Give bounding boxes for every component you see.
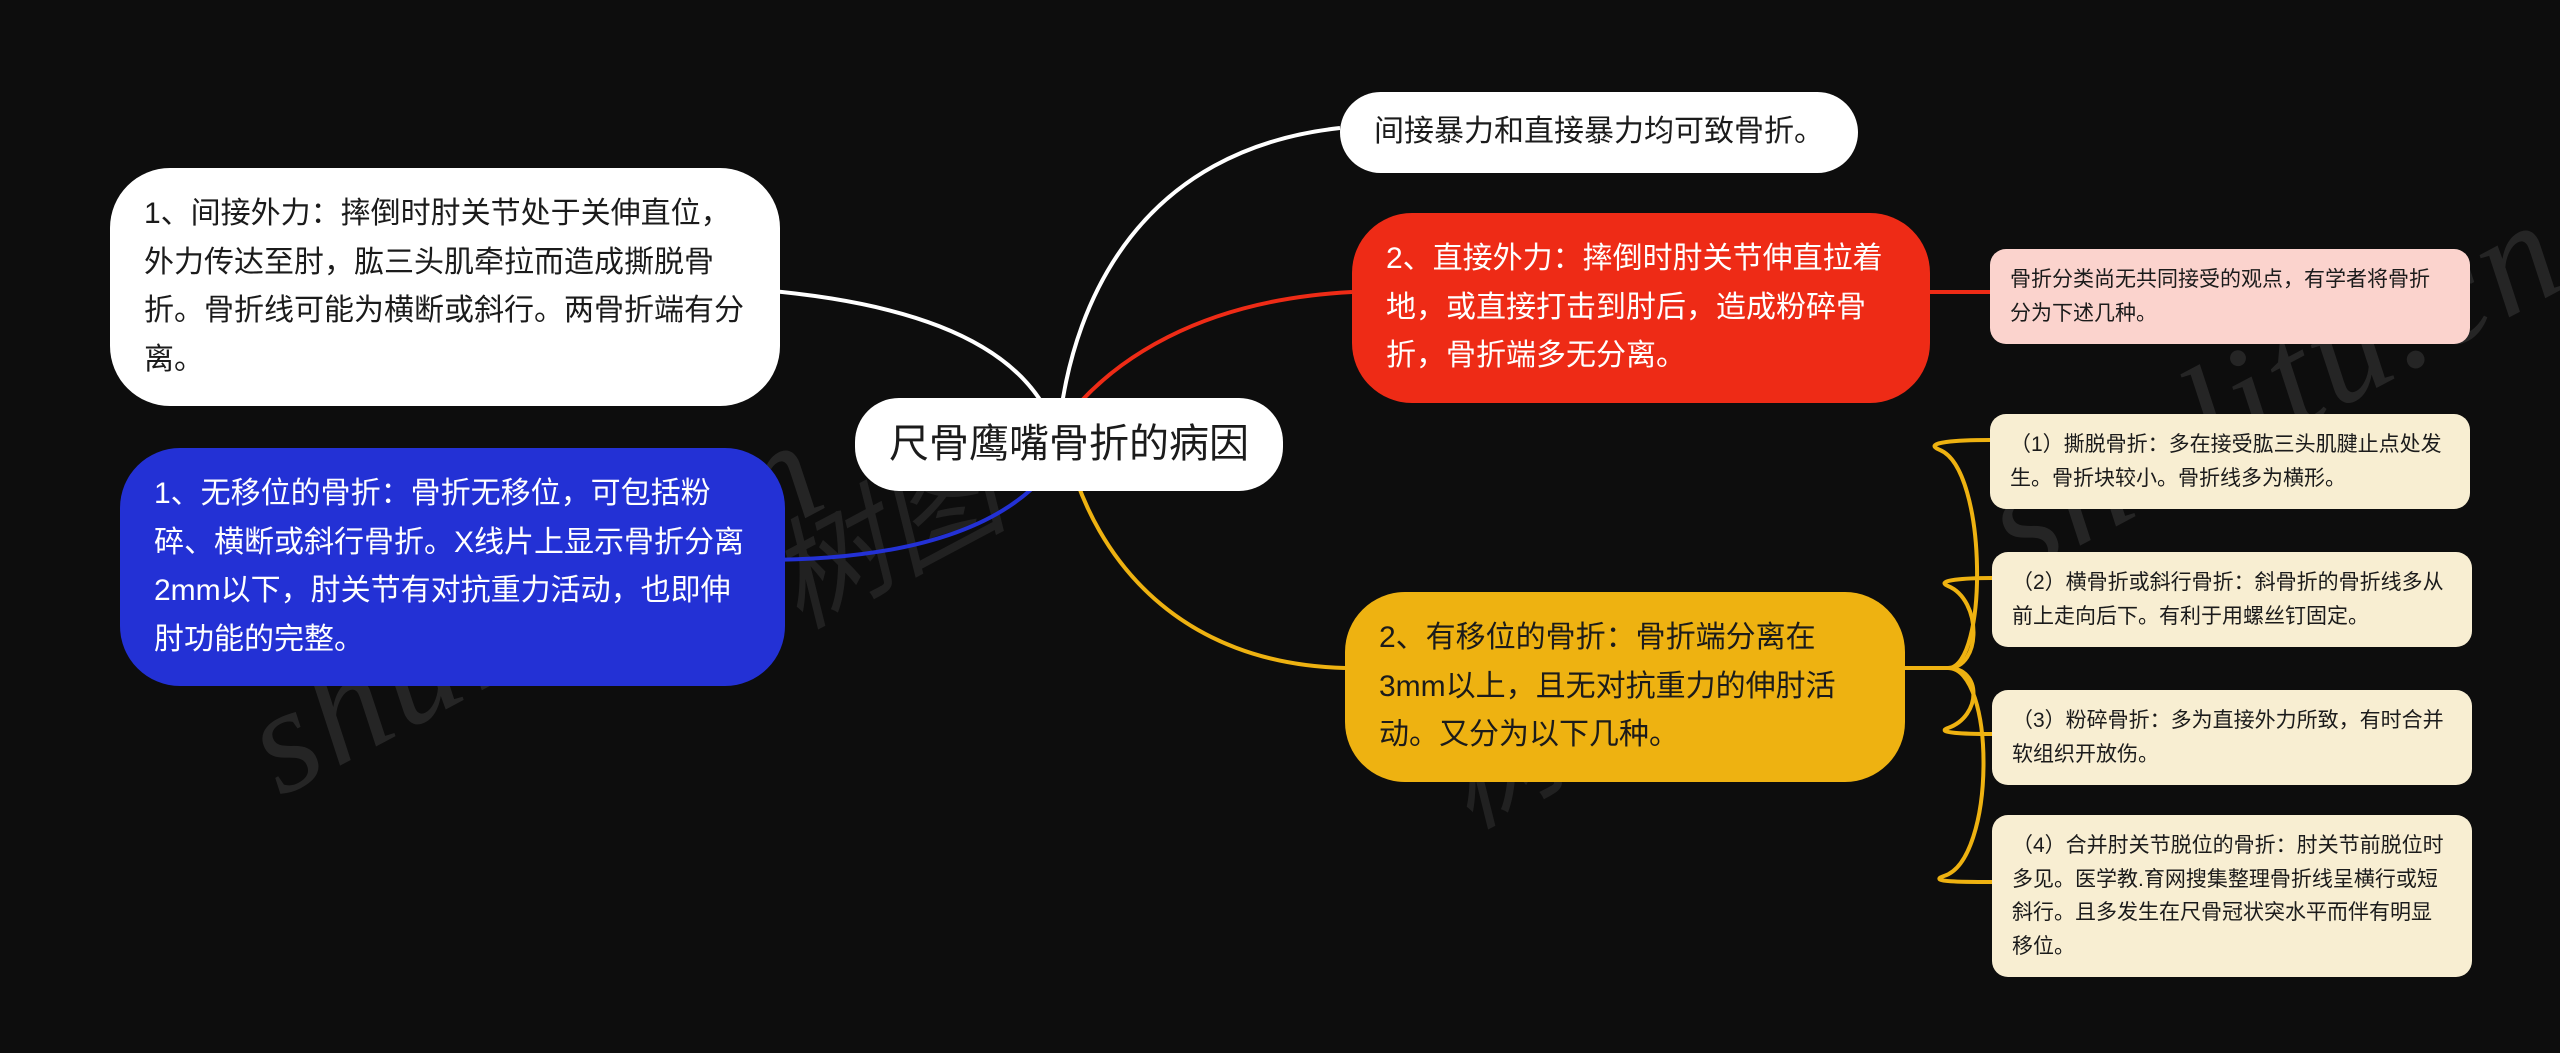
card-transverse-oblique-fracture[interactable]: （2）横骨折或斜行骨折：斜骨折的骨折线多从前上走向后下。有利于用螺丝钉固定。 <box>1992 552 2472 647</box>
card-dislocation-fracture[interactable]: （4）合并肘关节脱位的骨折：肘关节前脱位时多见。医学教.育网搜集整理骨折线呈横行… <box>1992 815 2472 977</box>
connector-avulsion <box>1935 440 1990 668</box>
connector-dislocation <box>1939 668 1992 882</box>
connector-transverse <box>1945 578 1992 668</box>
node-nondisplaced-fracture-label: 1、无移位的骨折：骨折无移位，可包括粉碎、横断或斜行骨折。X线片上显示骨折分离2… <box>154 470 751 664</box>
mindmap-canvas: shulitu.cn shulitu.cn 树图 树图 尺骨鹰嘴骨折的病因 1、… <box>0 0 2560 1053</box>
card-classification-note-label: 骨折分类尚无共同接受的观点，有学者将骨折分为下述几种。 <box>2010 263 2450 330</box>
node-direct-force[interactable]: 2、直接外力：摔倒时肘关节伸直拉着地，或直接打击到肘后，造成粉碎骨折，骨折端多无… <box>1352 213 1930 403</box>
node-indirect-force[interactable]: 1、间接外力：摔倒时肘关节处于关伸直位，外力传达至肘，肱三头肌牵拉而造成撕脱骨折… <box>110 168 780 406</box>
card-transverse-oblique-fracture-label: （2）横骨折或斜行骨折：斜骨折的骨折线多从前上走向后下。有利于用螺丝钉固定。 <box>2012 566 2452 633</box>
node-indirect-force-label: 1、间接外力：摔倒时肘关节处于关伸直位，外力传达至肘，肱三头肌牵拉而造成撕脱骨折… <box>144 190 746 384</box>
node-displaced-fracture-label: 2、有移位的骨折：骨折端分离在3mm以上，且无对抗重力的伸肘活动。又分为以下几种… <box>1379 614 1871 760</box>
card-comminuted-fracture-label: （3）粉碎骨折：多为直接外力所致，有时合并软组织开放伤。 <box>2012 704 2452 771</box>
card-comminuted-fracture[interactable]: （3）粉碎骨折：多为直接外力所致，有时合并软组织开放伤。 <box>1992 690 2472 785</box>
connector-both-forces <box>1060 128 1340 418</box>
node-displaced-fracture[interactable]: 2、有移位的骨折：骨折端分离在3mm以上，且无对抗重力的伸肘活动。又分为以下几种… <box>1345 592 1905 782</box>
node-both-forces-label: 间接暴力和直接暴力均可致骨折。 <box>1374 108 1824 157</box>
root-node[interactable]: 尺骨鹰嘴骨折的病因 <box>855 398 1283 491</box>
card-avulsion-fracture[interactable]: （1）撕脱骨折：多在接受肱三头肌腱止点处发生。骨折块较小。骨折线多为横形。 <box>1990 414 2470 509</box>
node-direct-force-label: 2、直接外力：摔倒时肘关节伸直拉着地，或直接打击到肘后，造成粉碎骨折，骨折端多无… <box>1386 235 1896 381</box>
watermark-text: shulitu.cn <box>1956 163 2560 609</box>
node-nondisplaced-fracture[interactable]: 1、无移位的骨折：骨折无移位，可包括粉碎、横断或斜行骨折。X线片上显示骨折分离2… <box>120 448 785 686</box>
card-dislocation-fracture-label: （4）合并肘关节脱位的骨折：肘关节前脱位时多见。医学教.育网搜集整理骨折线呈横行… <box>2012 829 2452 963</box>
connector-comminuted <box>1945 668 1992 734</box>
node-both-forces[interactable]: 间接暴力和直接暴力均可致骨折。 <box>1340 92 1858 173</box>
root-node-label: 尺骨鹰嘴骨折的病因 <box>889 412 1249 477</box>
card-avulsion-fracture-label: （1）撕脱骨折：多在接受肱三头肌腱止点处发生。骨折块较小。骨折线多为横形。 <box>2010 428 2450 495</box>
card-classification-note[interactable]: 骨折分类尚无共同接受的观点，有学者将骨折分为下述几种。 <box>1990 249 2470 344</box>
